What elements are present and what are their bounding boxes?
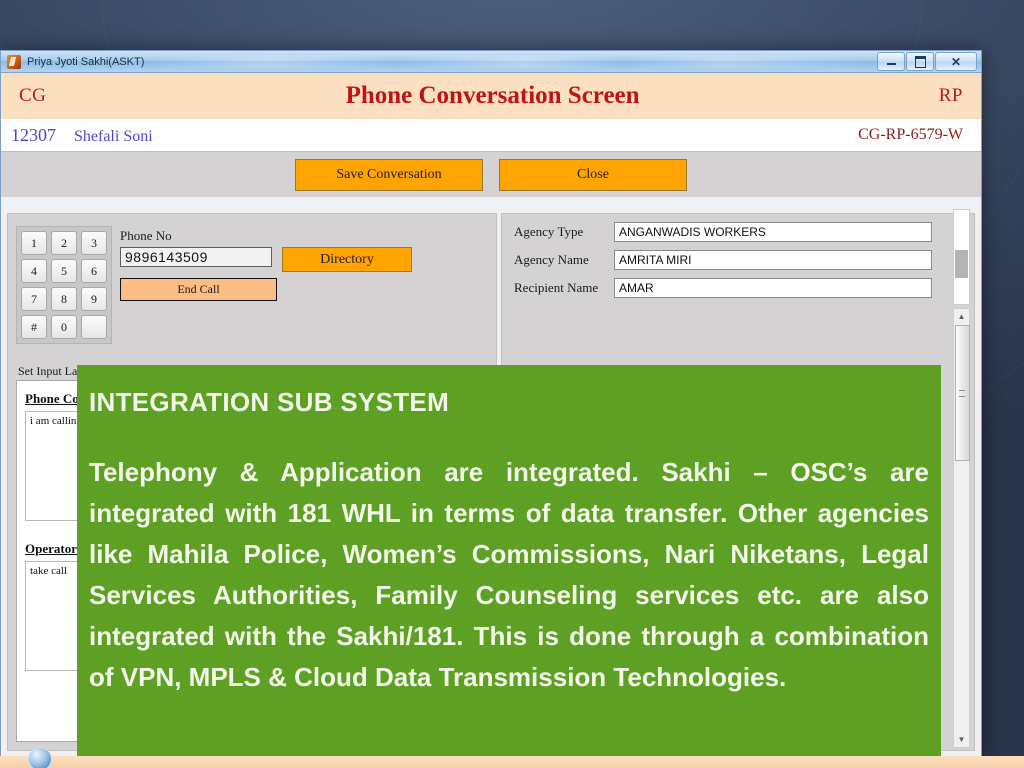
keypad-key-9[interactable]: 9	[81, 287, 107, 311]
close-icon[interactable]: ✕	[935, 52, 977, 71]
window-title: Priya Jyoti Sakhi(ASKT)	[27, 56, 144, 68]
agency-type-input[interactable]	[614, 222, 932, 242]
app-icon	[7, 55, 21, 69]
start-orb-icon[interactable]	[28, 747, 52, 768]
action-toolbar: Save Conversation Close	[1, 151, 981, 197]
overlay-title: INTEGRATION SUB SYSTEM	[89, 387, 929, 418]
keypad-key-5[interactable]: 5	[51, 259, 77, 283]
panel-scroll-stub[interactable]	[953, 209, 970, 305]
integration-overlay: INTEGRATION SUB SYSTEM Telephony & Appli…	[77, 365, 941, 758]
banner-left-code: CG	[19, 85, 46, 107]
end-call-button[interactable]: End Call	[120, 278, 277, 301]
keypad-key-0[interactable]: 0	[51, 315, 77, 339]
record-subbar: 12307 Shefali Soni CG-RP-6579-W	[1, 119, 981, 151]
recipient-name-label: Recipient Name	[514, 280, 614, 296]
app-banner: CG Phone Conversation Screen RP	[1, 73, 981, 119]
keypad-key-hash[interactable]: #	[21, 315, 47, 339]
scroll-down-icon[interactable]: ▼	[954, 732, 969, 747]
keypad-key-extra[interactable]	[81, 315, 107, 339]
save-conversation-button[interactable]: Save Conversation	[295, 159, 483, 191]
title-bar: Priya Jyoti Sakhi(ASKT) ✕	[1, 51, 981, 73]
keypad-key-2[interactable]: 2	[51, 231, 77, 255]
directory-button[interactable]: Directory	[282, 247, 412, 272]
banner-right-code: RP	[939, 85, 963, 107]
phone-entry-block: Phone No Directory End Call	[120, 228, 412, 301]
agency-name-row: Agency Name	[514, 250, 974, 270]
scrollbar-thumb[interactable]	[955, 325, 970, 461]
close-button[interactable]: Close	[499, 159, 687, 191]
record-id: 12307	[11, 125, 56, 146]
keypad-key-1[interactable]: 1	[21, 231, 47, 255]
recipient-name-input[interactable]	[614, 278, 932, 298]
record-identity: 12307 Shefali Soni	[11, 125, 153, 146]
minimize-icon[interactable]	[877, 52, 905, 71]
record-name: Shefali Soni	[74, 128, 153, 146]
dial-keypad: 1 2 3 4 5 6 7 8 9 # 0	[16, 226, 112, 344]
agency-type-label: Agency Type	[514, 224, 614, 240]
record-code: CG-RP-6579-W	[858, 126, 963, 144]
phone-row: Directory	[120, 247, 412, 272]
page-title: Phone Conversation Screen	[346, 82, 640, 110]
keypad-key-4[interactable]: 4	[21, 259, 47, 283]
taskbar	[0, 756, 1024, 768]
keypad-key-7[interactable]: 7	[21, 287, 47, 311]
phone-number-input[interactable]	[120, 247, 272, 267]
scroll-up-icon[interactable]: ▲	[954, 309, 969, 324]
keypad-key-3[interactable]: 3	[81, 231, 107, 255]
application-window: Priya Jyoti Sakhi(ASKT) ✕ CG Phone Conve…	[0, 50, 982, 758]
screen-root: Priya Jyoti Sakhi(ASKT) ✕ CG Phone Conve…	[0, 0, 1024, 768]
maximize-icon[interactable]	[906, 52, 934, 71]
agency-name-input[interactable]	[614, 250, 932, 270]
window-controls: ✕	[876, 52, 977, 71]
agency-type-row: Agency Type	[514, 222, 974, 242]
title-bar-ghost-strip	[154, 56, 866, 68]
phone-no-label: Phone No	[120, 228, 412, 244]
overlay-body: Telephony & Application are integrated. …	[89, 452, 929, 698]
agency-name-label: Agency Name	[514, 252, 614, 268]
right-panel-scrollbar[interactable]: ▲ ▼	[953, 308, 970, 748]
panel-scroll-stub-thumb[interactable]	[955, 250, 968, 278]
keypad-key-8[interactable]: 8	[51, 287, 77, 311]
recipient-name-row: Recipient Name	[514, 278, 974, 298]
keypad-key-6[interactable]: 6	[81, 259, 107, 283]
